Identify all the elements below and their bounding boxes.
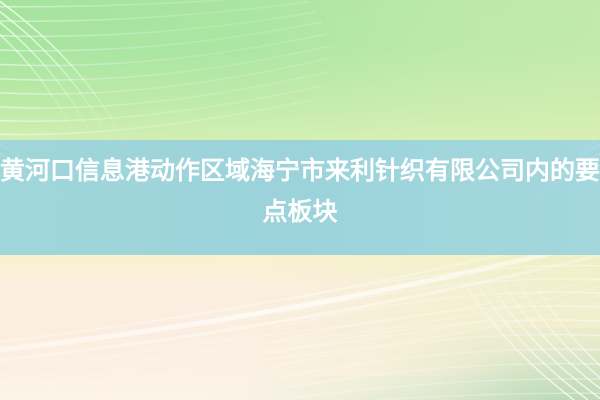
page-title: 黄河口信息港动作区域海宁市来利针织有限公司内的要点板块 <box>0 150 600 232</box>
background-green-glow-bottom-center <box>180 376 540 400</box>
banner-image: 黄河口信息港动作区域海宁市来利针织有限公司内的要点板块 <box>0 0 600 400</box>
